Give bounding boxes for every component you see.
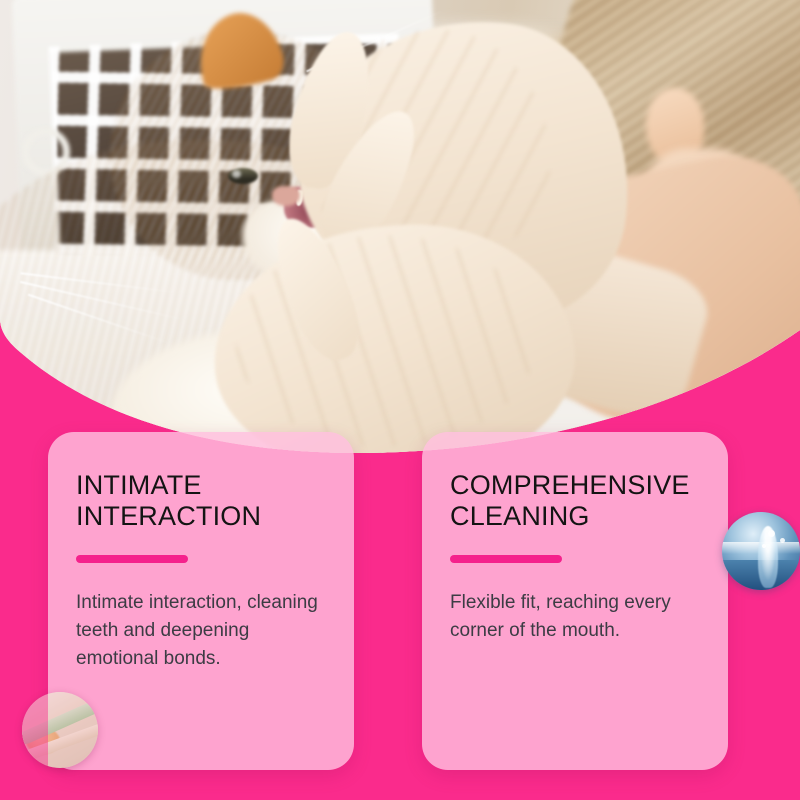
feature-card-title: INTIMATE INTERACTION — [76, 470, 328, 533]
water-bubble — [768, 530, 775, 537]
feature-card-body: Flexible fit, reaching every corner of t… — [450, 589, 702, 645]
hero-photo-image — [0, 0, 800, 470]
hero-photo — [0, 0, 800, 470]
cat-eye — [228, 168, 258, 184]
water-splash-circle — [722, 512, 800, 590]
water-bubble — [762, 544, 766, 548]
accent-bar — [76, 555, 188, 563]
product-circle — [22, 692, 98, 768]
cat-nose — [272, 186, 300, 206]
feature-card-title: COMPREHENSIVE CLEANING — [450, 470, 702, 533]
water-bubble — [780, 538, 785, 543]
feature-card-comprehensive-cleaning: COMPREHENSIVE CLEANING Flexible fit, rea… — [422, 432, 728, 770]
product-feature-poster: INTIMATE INTERACTION Intimate interactio… — [0, 0, 800, 800]
product-circle-left-tint — [22, 692, 48, 768]
accent-bar — [450, 555, 562, 563]
feature-card-body: Intimate interaction, cleaning teeth and… — [76, 589, 328, 673]
